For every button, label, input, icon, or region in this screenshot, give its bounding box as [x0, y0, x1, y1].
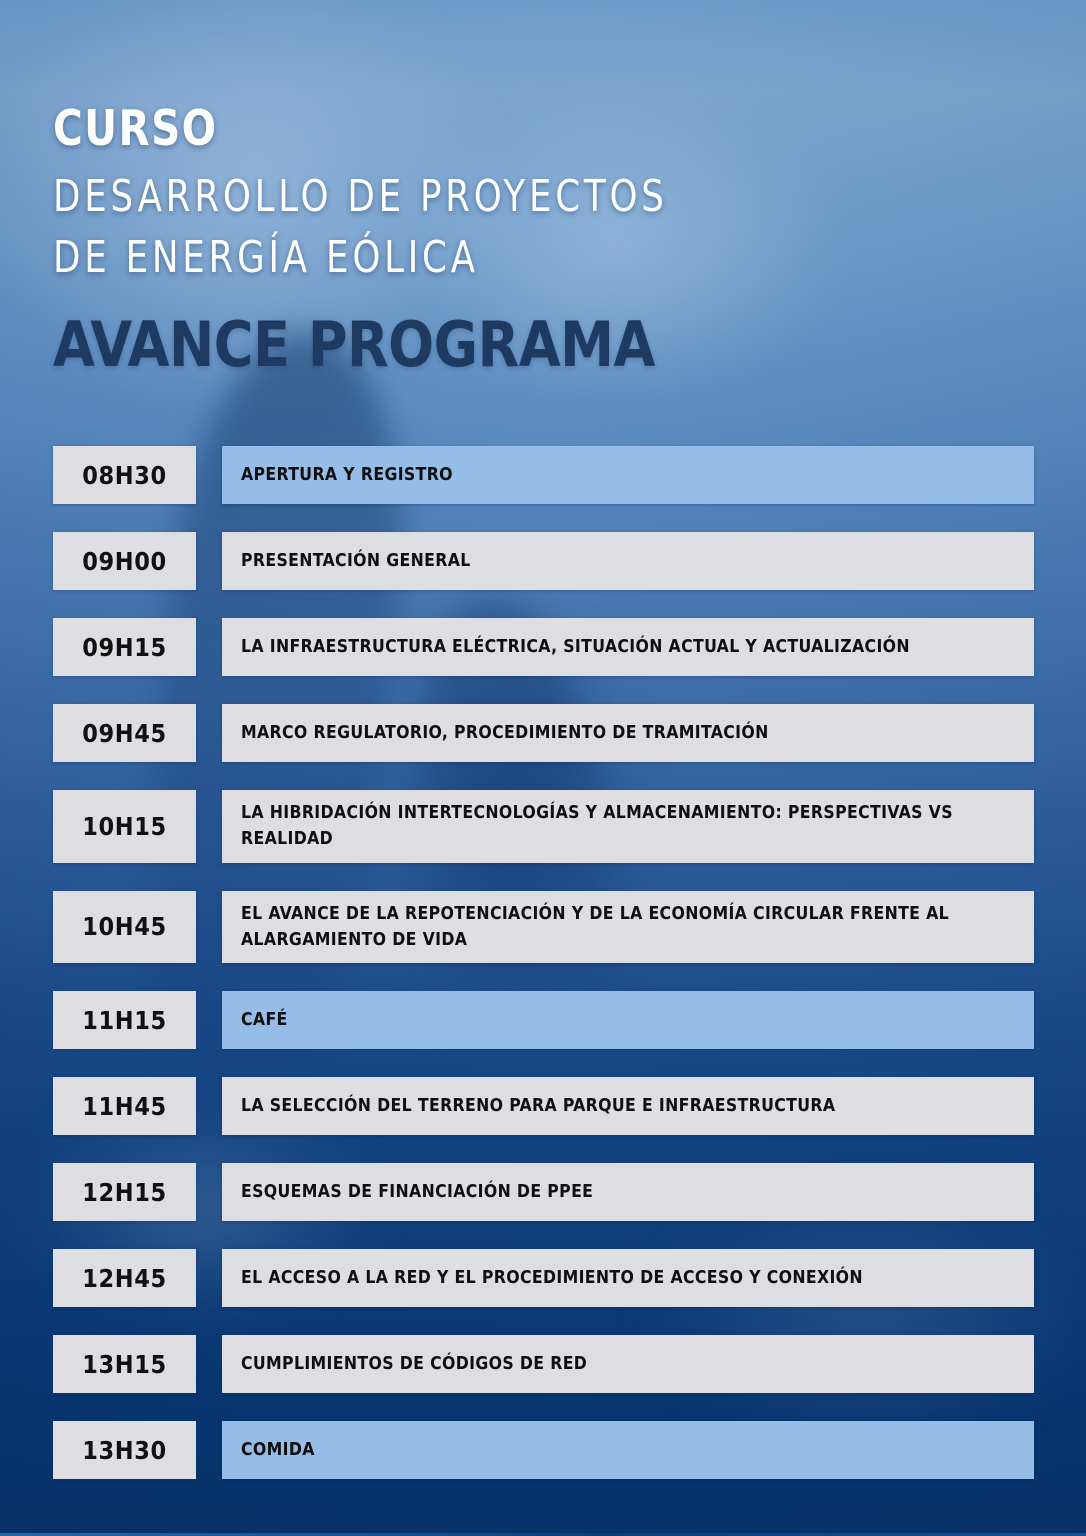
- schedule-time-cell: 09H45: [53, 704, 196, 762]
- schedule-title-cell: LA HIBRIDACIÓN INTERTECNOLOGÍAS Y ALMACE…: [222, 790, 1034, 863]
- schedule-time-label: 12H15: [82, 1178, 166, 1207]
- schedule-row: 09H15LA INFRAESTRUCTURA ELÉCTRICA, SITUA…: [53, 618, 1034, 676]
- schedule-time-cell: 11H15: [53, 991, 196, 1049]
- schedule-time-cell: 13H30: [53, 1421, 196, 1479]
- schedule-time-cell: 08H30: [53, 446, 196, 504]
- schedule-time-label: 08H30: [82, 461, 166, 490]
- schedule-row: 09H45MARCO REGULATORIO, PROCEDIMIENTO DE…: [53, 704, 1034, 762]
- schedule-title-label: PRESENTACIÓN GENERAL: [241, 548, 471, 574]
- schedule-title-cell: PRESENTACIÓN GENERAL: [222, 532, 1034, 590]
- schedule-title-label: EL AVANCE DE LA REPOTENCIACIÓN Y DE LA E…: [241, 901, 1034, 954]
- schedule-title-cell: APERTURA Y REGISTRO: [222, 446, 1034, 504]
- schedule-time-cell: 09H15: [53, 618, 196, 676]
- section-title: AVANCE PROGRAMA: [53, 314, 926, 376]
- schedule-title-label: CAFÉ: [241, 1007, 288, 1033]
- schedule-row: 11H15CAFÉ: [53, 991, 1034, 1049]
- schedule-time-cell: 11H45: [53, 1077, 196, 1135]
- schedule-title-cell: EL ACCESO A LA RED Y EL PROCEDIMIENTO DE…: [222, 1249, 1034, 1307]
- schedule-time-label: 13H15: [82, 1350, 166, 1379]
- schedule-row: 13H30COMIDA: [53, 1421, 1034, 1479]
- schedule-time-cell: 12H45: [53, 1249, 196, 1307]
- schedule-time-label: 11H45: [82, 1092, 166, 1121]
- schedule-title-label: COMIDA: [241, 1437, 315, 1463]
- schedule-title-cell: CUMPLIMIENTOS DE CÓDIGOS DE RED: [222, 1335, 1034, 1393]
- schedule-title-cell: LA SELECCIÓN DEL TERRENO PARA PARQUE E I…: [222, 1077, 1034, 1135]
- course-title-line-1: DESARROLLO DE PROYECTOS: [53, 167, 863, 228]
- schedule-time-cell: 10H15: [53, 790, 196, 863]
- course-title-line-2: DE ENERGÍA EÓLICA: [53, 228, 863, 289]
- course-title: DESARROLLO DE PROYECTOS DE ENERGÍA EÓLIC…: [53, 167, 863, 288]
- schedule-time-label: 12H45: [82, 1264, 166, 1293]
- schedule-time-label: 11H15: [82, 1006, 166, 1035]
- schedule-time-label: 10H45: [82, 912, 166, 941]
- schedule-row: 12H45EL ACCESO A LA RED Y EL PROCEDIMIEN…: [53, 1249, 1034, 1307]
- schedule-title-cell: MARCO REGULATORIO, PROCEDIMIENTO DE TRAM…: [222, 704, 1034, 762]
- schedule-time-cell: 10H45: [53, 891, 196, 964]
- schedule-time-cell: 12H15: [53, 1163, 196, 1221]
- schedule-time-label: 10H15: [82, 812, 166, 841]
- schedule-time-label: 09H00: [82, 547, 166, 576]
- schedule-title-cell: EL AVANCE DE LA REPOTENCIACIÓN Y DE LA E…: [222, 891, 1034, 964]
- schedule-row: 10H45EL AVANCE DE LA REPOTENCIACIÓN Y DE…: [53, 891, 1034, 964]
- schedule-row: 08H30APERTURA Y REGISTRO: [53, 446, 1034, 504]
- schedule-time-label: 13H30: [82, 1436, 166, 1465]
- schedule-row: 09H00PRESENTACIÓN GENERAL: [53, 532, 1034, 590]
- schedule-row: 11H45LA SELECCIÓN DEL TERRENO PARA PARQU…: [53, 1077, 1034, 1135]
- schedule-time-label: 09H15: [82, 633, 166, 662]
- schedule-title-label: EL ACCESO A LA RED Y EL PROCEDIMIENTO DE…: [241, 1265, 863, 1291]
- schedule-title-label: LA INFRAESTRUCTURA ELÉCTRICA, SITUACIÓN …: [241, 634, 910, 660]
- schedule-title-label: CUMPLIMIENTOS DE CÓDIGOS DE RED: [241, 1351, 587, 1377]
- schedule-row: 13H15CUMPLIMIENTOS DE CÓDIGOS DE RED: [53, 1335, 1034, 1393]
- schedule-row: 10H15LA HIBRIDACIÓN INTERTECNOLOGÍAS Y A…: [53, 790, 1034, 863]
- schedule-title-label: APERTURA Y REGISTRO: [241, 462, 453, 488]
- schedule-title-cell: ESQUEMAS DE FINANCIACIÓN DE PPEE: [222, 1163, 1034, 1221]
- course-kicker: CURSO: [53, 104, 881, 153]
- schedule-title-label: MARCO REGULATORIO, PROCEDIMIENTO DE TRAM…: [241, 720, 769, 746]
- schedule-title-label: ESQUEMAS DE FINANCIACIÓN DE PPEE: [241, 1179, 593, 1205]
- schedule-title-cell: COMIDA: [222, 1421, 1034, 1479]
- schedule-title-label: LA HIBRIDACIÓN INTERTECNOLOGÍAS Y ALMACE…: [241, 800, 1034, 853]
- schedule-list: 08H30APERTURA Y REGISTRO09H00PRESENTACIÓ…: [53, 446, 1034, 1507]
- schedule-title-cell: CAFÉ: [222, 991, 1034, 1049]
- poster: CURSO DESARROLLO DE PROYECTOS DE ENERGÍA…: [0, 0, 1086, 1536]
- schedule-row: 12H15ESQUEMAS DE FINANCIACIÓN DE PPEE: [53, 1163, 1034, 1221]
- schedule-time-cell: 09H00: [53, 532, 196, 590]
- schedule-time-label: 09H45: [82, 719, 166, 748]
- schedule-time-cell: 13H15: [53, 1335, 196, 1393]
- schedule-title-label: LA SELECCIÓN DEL TERRENO PARA PARQUE E I…: [241, 1093, 835, 1119]
- poster-header: CURSO DESARROLLO DE PROYECTOS DE ENERGÍA…: [53, 104, 953, 376]
- schedule-title-cell: LA INFRAESTRUCTURA ELÉCTRICA, SITUACIÓN …: [222, 618, 1034, 676]
